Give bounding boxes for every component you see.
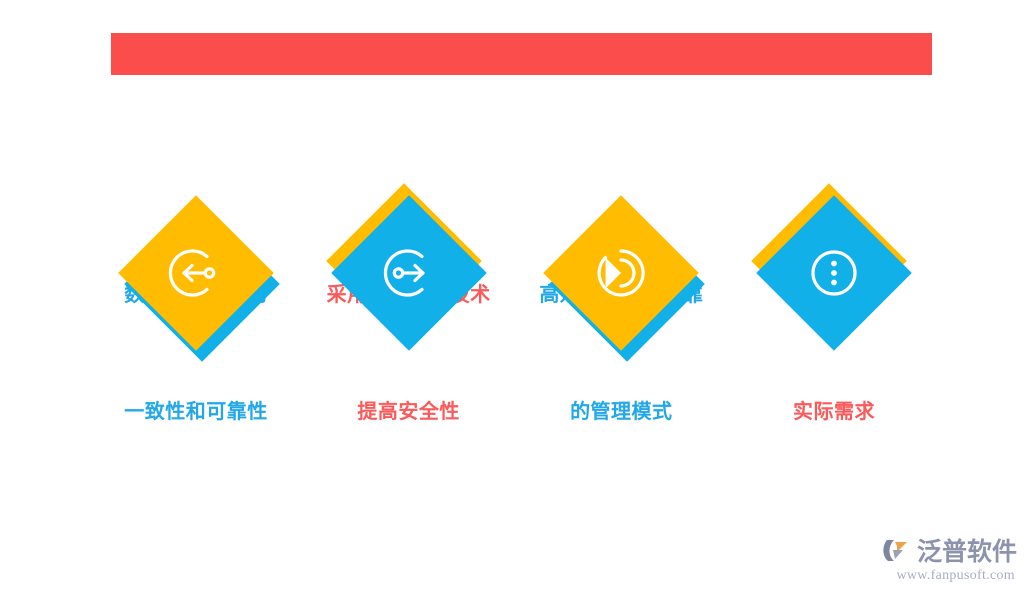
- caption-line: 的管理模式: [539, 393, 703, 432]
- caption-line: 实际需求: [793, 393, 875, 432]
- feature-list: 数据具有高度的 一致性和可靠性 采用数据加密技术: [90, 176, 940, 506]
- header-banner: [111, 33, 932, 75]
- arrow-left-in-circle-icon: [141, 218, 251, 328]
- caption-line: 一致性和可靠性: [124, 393, 268, 432]
- watermark: 泛普软件 www.fanpusoft.com: [877, 536, 1017, 588]
- feature-item-1[interactable]: 数据具有高度的 一致性和可靠性: [90, 176, 302, 506]
- watermark-url: www.fanpusoft.com: [877, 568, 1017, 584]
- feature-item-4[interactable]: 满足企业 实际需求: [728, 176, 940, 506]
- caption-line: 提高安全性: [327, 393, 491, 432]
- arrow-right-out-circle-icon: [354, 218, 464, 328]
- fanpu-logo-icon: [883, 536, 913, 569]
- fast-forward-circle-icon: [566, 218, 676, 328]
- banner-title: [111, 33, 932, 75]
- feature-item-3[interactable]: 高效、快速、可靠 的管理模式: [515, 176, 727, 506]
- feature-item-2[interactable]: 采用数据加密技术 提高安全性: [303, 176, 515, 506]
- more-vertical-circle-icon: [779, 218, 889, 328]
- watermark-name: 泛普软件: [917, 537, 1017, 567]
- watermark-brand: 泛普软件: [877, 536, 1017, 568]
- slide-root: 数据具有高度的 一致性和可靠性 采用数据加密技术: [0, 0, 1029, 600]
